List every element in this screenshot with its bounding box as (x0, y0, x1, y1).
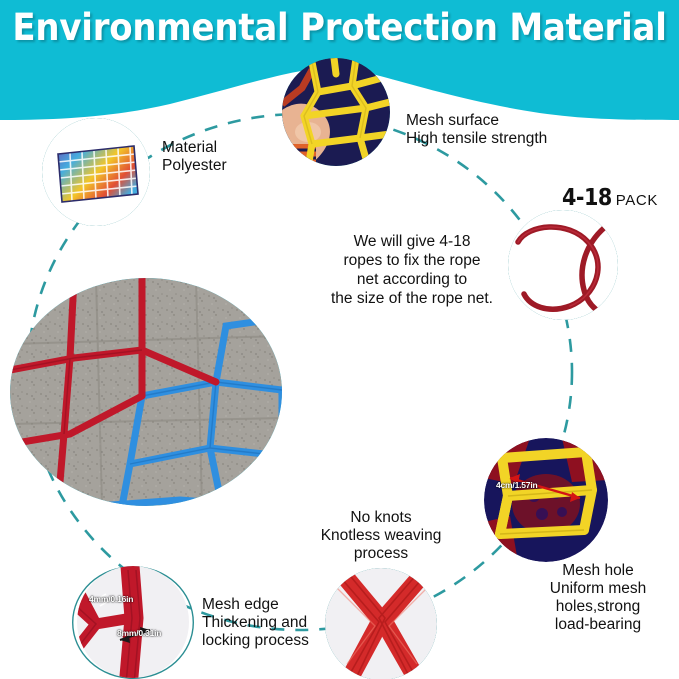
yellow-mesh-hole-photo (484, 438, 608, 562)
feature-label-mesh-hole: Mesh hole Uniform mesh holes,strong load… (518, 562, 678, 634)
red-rope-edge-closeup-photo (72, 566, 194, 679)
feature-image-rope-pack (508, 210, 618, 320)
mesh-edge-measurement-b: 8mm/0.31in (117, 628, 161, 638)
feature-image-mesh-hole: 4cm/1.57in (484, 438, 608, 562)
feature-image-material (42, 118, 150, 226)
infographic-canvas: Environmental Protection Material (0, 0, 679, 679)
pack-label: PACK (616, 192, 658, 209)
feature-label-material: Material Polyester (162, 139, 322, 175)
mesh-edge-measurement-a: 4mm/0.16in (89, 594, 133, 604)
polyester-mesh-swatch-photo (42, 118, 150, 226)
center-description: We will give 4-18 ropes to fix the rope … (316, 232, 508, 308)
mesh-hole-measurement: 4cm/1.57in (496, 480, 537, 490)
feature-image-mesh-edge: 4mm/0.16in 8mm/0.31in (72, 566, 194, 679)
red-blue-rope-net-on-concrete-photo (10, 278, 282, 506)
pack-count: 4-18 (562, 185, 612, 211)
feature-label-mesh-surface: Mesh surface High tensile strength (406, 112, 596, 148)
page-title: Environmental Protection Material (0, 6, 679, 50)
pack-badge: 4-18PACK (562, 185, 658, 211)
feature-label-mesh-edge: Mesh edge Thickening and locking process (202, 596, 402, 650)
feature-image-main-net (10, 278, 282, 506)
red-rope-coil-photo (508, 210, 618, 320)
feature-label-no-knots: No knots Knotless weaving process (296, 509, 466, 563)
